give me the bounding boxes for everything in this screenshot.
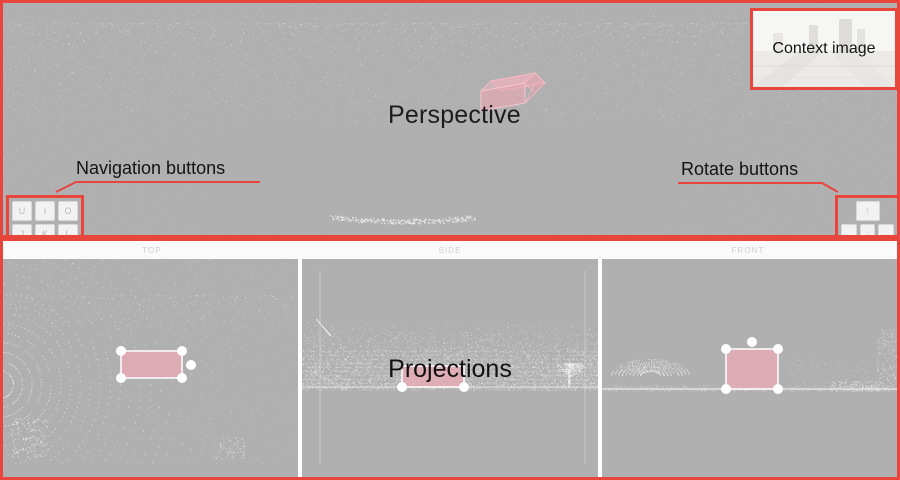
handle-top-center bbox=[747, 337, 757, 347]
projections-label: Projections bbox=[388, 355, 512, 384]
top-view-header: TOP bbox=[3, 241, 301, 259]
handle-bottom-right bbox=[773, 384, 783, 394]
front-view-header: FRONT bbox=[599, 241, 897, 259]
front-view[interactable] bbox=[600, 259, 897, 477]
handle-bottom-right bbox=[177, 373, 187, 383]
handle-top-left bbox=[116, 346, 126, 356]
projections-panel: TOP SIDE FRONT bbox=[0, 238, 900, 480]
projection-views: Projections bbox=[3, 259, 897, 477]
handle-top-right bbox=[177, 346, 187, 356]
bounding-box-front[interactable] bbox=[602, 259, 897, 464]
handle-top-right bbox=[773, 344, 783, 354]
handle-direction bbox=[186, 360, 196, 370]
top-view[interactable] bbox=[3, 259, 298, 477]
bounding-box-top[interactable] bbox=[3, 259, 298, 464]
side-view-header: SIDE bbox=[301, 241, 599, 259]
annotation-tool-root: Perspective Context image U I bbox=[0, 0, 900, 480]
handle-bottom-left bbox=[116, 373, 126, 383]
handle-top-left bbox=[721, 344, 731, 354]
handle-bottom-left bbox=[721, 384, 731, 394]
projection-headers: TOP SIDE FRONT bbox=[3, 241, 897, 259]
side-view[interactable]: Projections bbox=[300, 259, 597, 477]
